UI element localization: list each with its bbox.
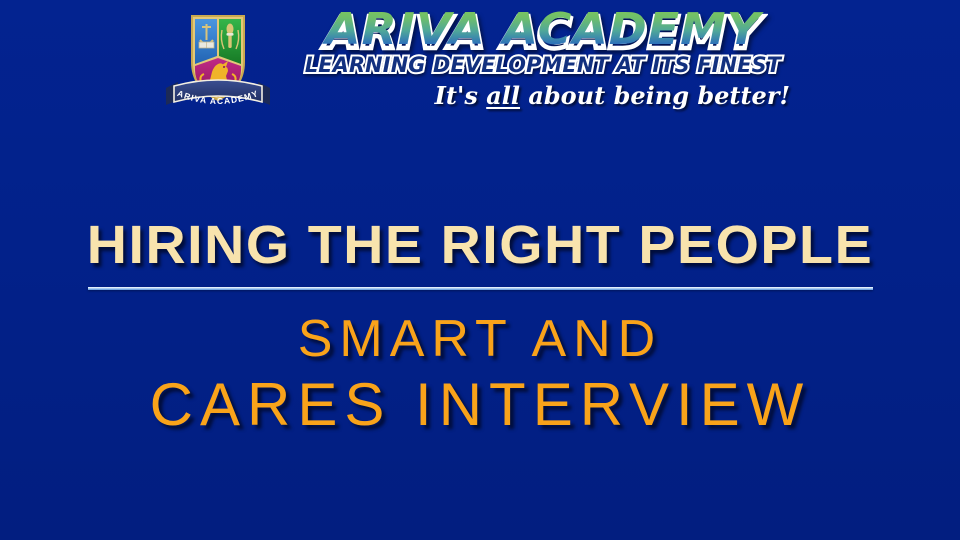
slide-headline: HIRING THE RIGHT PEOPLE (0, 218, 960, 272)
slide-subtitle-line-2: CARES INTERVIEW (0, 373, 960, 436)
brand-name: ARIVA ACADEMY (278, 8, 808, 52)
brand-name-line: ARIVA ACADEMY ARIVA ACADEMY (288, 8, 798, 54)
slogan-part-after: about being better! (520, 81, 790, 110)
crest-ribbon: ARIVA ACADEMY (166, 80, 270, 106)
slide-subtitle-line-1: SMART AND (0, 312, 960, 367)
logo-wordmark: ARIVA ACADEMY ARIVA ACADEMY LEARNING DEV… (288, 4, 798, 108)
brand-tagline: LEARNING DEVELOPMENT AT ITS FINEST (291, 53, 796, 78)
crest-icon: ARIVA ACADEMY (162, 4, 274, 120)
brand-tagline-line: LEARNING DEVELOPMENT AT ITS FINEST LEARN… (288, 53, 798, 81)
slogan-part-underlined: all (486, 81, 520, 110)
ariva-academy-logo: ARIVA ACADEMY ARIVA ACADEMY ARIVA ACADEM… (162, 4, 798, 120)
headline-divider (88, 287, 873, 290)
presentation-slide: ARIVA ACADEMY ARIVA ACADEMY ARIVA ACADEM… (0, 0, 960, 540)
slide-subtitle: SMART AND CARES INTERVIEW (0, 312, 960, 436)
brand-slogan: It's all about being better! (288, 84, 798, 108)
slogan-part-before: It's (435, 81, 487, 110)
logo-band: ARIVA ACADEMY ARIVA ACADEMY ARIVA ACADEM… (0, 0, 960, 140)
